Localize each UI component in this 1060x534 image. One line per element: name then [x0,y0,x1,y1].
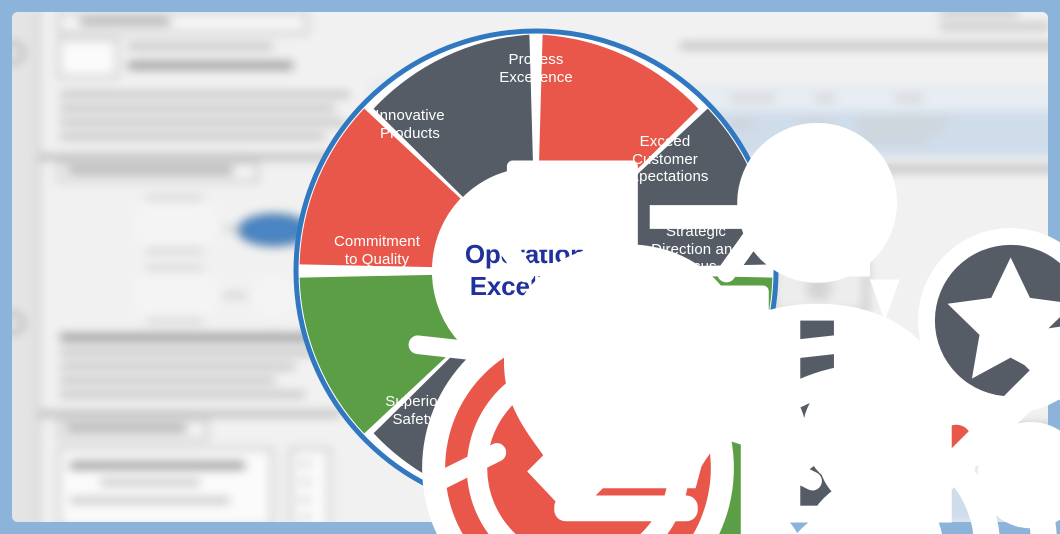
table-cell-text [858,138,928,142]
table-cell-text [858,118,948,122]
screenshot-root: ♔ [0,0,1060,534]
flow-hexagon [125,267,225,322]
table-column-header [895,96,923,101]
doc-text-line [298,516,312,520]
chart-callout-bubble: ♔ [770,260,868,315]
doc-text-line [940,12,1018,15]
doc-text-line [128,44,273,49]
flow-connector [225,228,241,231]
doc-text-line [128,62,293,69]
table-column-header [815,96,835,101]
doc-text-line [70,462,245,469]
document-left-rail [12,12,40,522]
table-cell-text [800,122,832,127]
doc-box [58,448,273,522]
doc-text-line [60,334,315,341]
doc-text-line [100,480,200,485]
doc-text-line [60,134,325,139]
doc-text-line [60,378,275,383]
wheel-center-title: Operational Excellence [465,239,607,302]
doc-text-line [940,24,1048,29]
doc-text-line [70,498,230,503]
doc-text-line [60,364,295,369]
doc-text-line [80,19,170,24]
doc-text-line [66,426,186,431]
wheel-center-hub: Operational Excellence [432,167,640,375]
table-column-header [785,465,807,470]
doc-text-line [68,168,233,173]
table-column-header [875,465,901,470]
flow-hexagon [125,197,225,252]
chart-axis-tick [800,370,812,375]
table-cell-text [830,502,910,506]
doc-text-line [60,392,305,397]
flow-connector [225,294,247,297]
table-cell-text [858,128,942,132]
crown-glyph-icon: ♔ [804,268,834,308]
doc-box [58,38,118,78]
table-cell-text [830,490,920,494]
operational-excellence-wheel: Operational Excellence Process Excellenc… [292,27,780,515]
